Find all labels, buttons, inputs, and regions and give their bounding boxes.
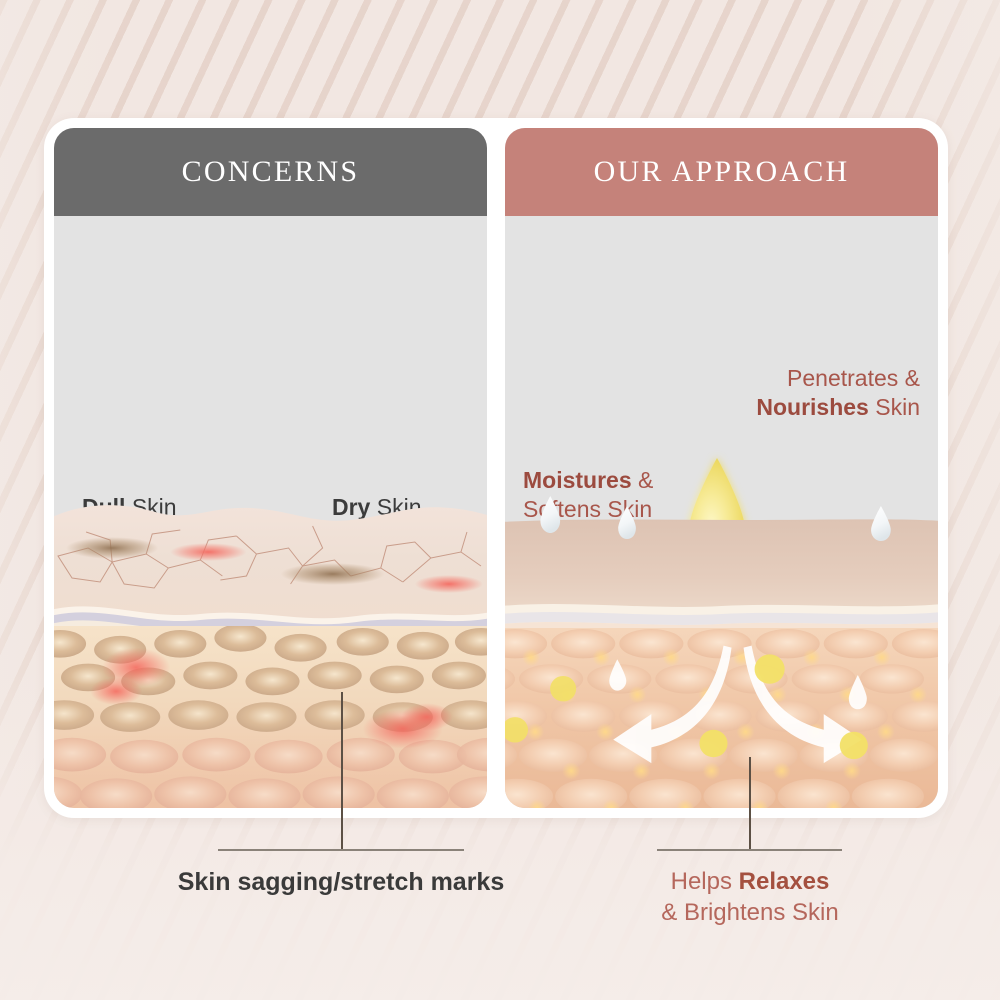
callout-stem-left <box>341 692 343 850</box>
caption-right-line2: & Brightens Skin <box>590 897 910 928</box>
water-droplet-icon <box>871 506 891 541</box>
callout-stem-right <box>749 757 751 850</box>
caption-helps-plain: Helps <box>671 868 739 895</box>
panel-concerns: CONCERNS Dull Skin Dry Skin <box>54 128 487 808</box>
label-nourishes-bold: Nourishes <box>756 394 868 420</box>
caption-right-line1: Helps Relaxes <box>590 866 910 897</box>
label-penetrates-nourishes: Penetrates & Nourishes Skin <box>756 364 920 423</box>
panel-concerns-header: CONCERNS <box>54 128 487 216</box>
comparison-card: CONCERNS Dull Skin Dry Skin <box>44 118 948 818</box>
skin-cross-section-damaged <box>54 508 487 808</box>
label-moistures-bold: Moistures <box>523 467 632 493</box>
panel-our-approach: OUR APPROACH Penetrates & Nourishes Skin… <box>505 128 938 808</box>
callout-bar-left <box>218 849 464 851</box>
label-penetrates-line1: Penetrates & <box>756 364 920 393</box>
label-nourishes-line2: Nourishes Skin <box>756 393 920 422</box>
skin-cross-section-healthy <box>505 508 938 808</box>
surface-water-droplets <box>505 492 938 556</box>
label-moistures-rest: & <box>632 467 654 493</box>
water-droplet-icon <box>618 506 636 539</box>
caption-relaxes-bold: Relaxes <box>739 868 830 895</box>
label-nourishes-rest: Skin <box>869 394 920 420</box>
panel-concerns-body: Dull Skin Dry Skin <box>54 216 487 808</box>
panel-approach-body: Penetrates & Nourishes Skin Moistures & … <box>505 216 938 808</box>
water-droplet-icon <box>540 496 560 533</box>
callout-bar-right <box>657 849 842 851</box>
dermis-healthy <box>505 628 938 808</box>
caption-helps-relaxes: Helps Relaxes & Brightens Skin <box>590 866 910 928</box>
panel-approach-header: OUR APPROACH <box>505 128 938 216</box>
caption-skin-sagging: Skin sagging/stretch marks <box>121 866 561 899</box>
dermis-damaged <box>54 626 487 808</box>
